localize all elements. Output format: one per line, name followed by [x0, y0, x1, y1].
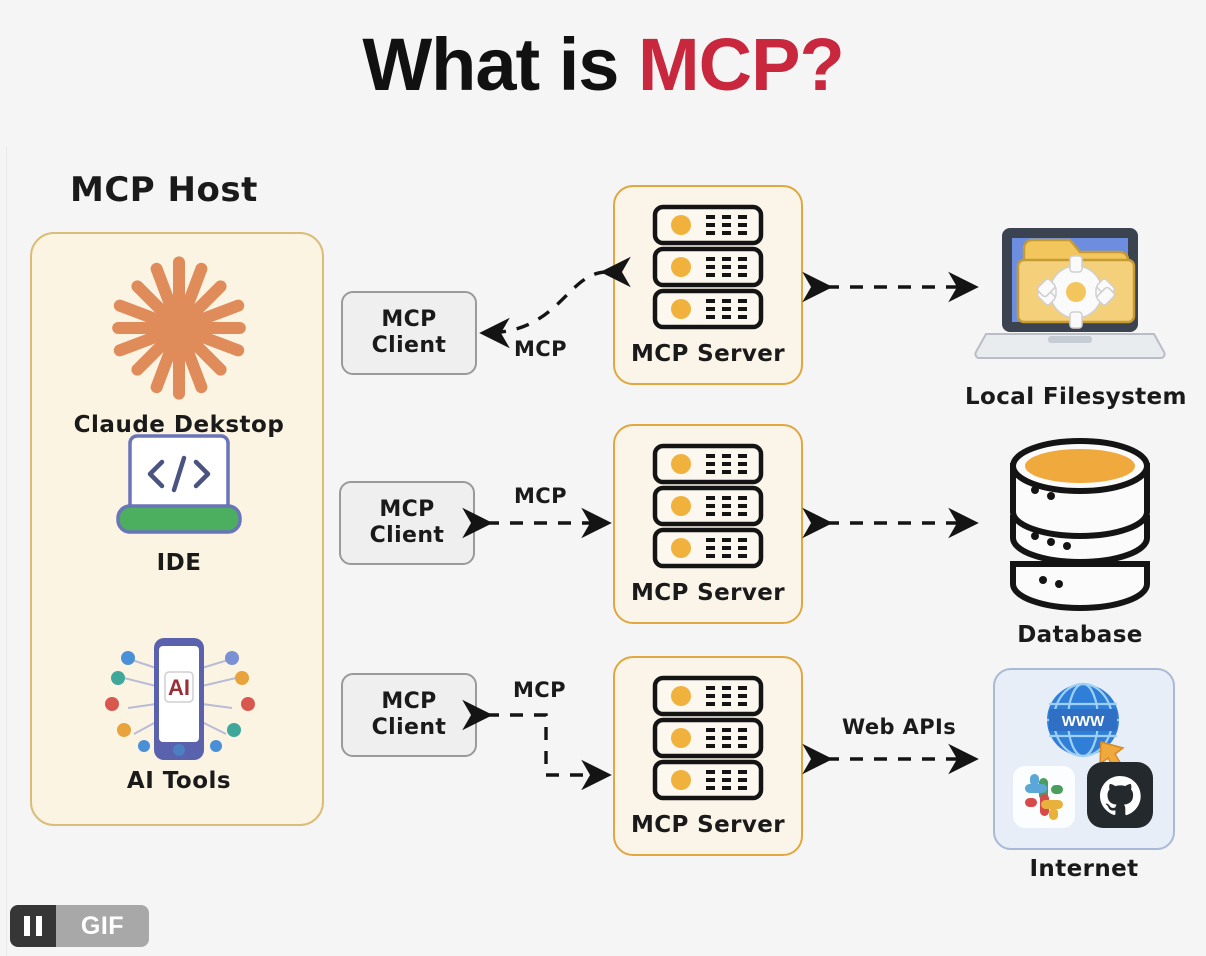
gif-format-label: GIF [56, 905, 149, 947]
mcp-server-label-3: MCP Server [631, 812, 785, 838]
diagram-canvas: What is MCP? MCP Host [0, 0, 1206, 956]
pause-bar-right [36, 916, 42, 936]
mcp-server-card-1[interactable]: MCP Server [613, 185, 803, 385]
page-title: What is MCP? [0, 22, 1206, 107]
resource-local-filesystem[interactable]: Local Filesystem [965, 222, 1175, 410]
resource-label-internet: Internet [980, 856, 1188, 882]
resource-label-local-filesystem: Local Filesystem [965, 384, 1175, 410]
claude-burst-icon [32, 248, 326, 408]
mcp-client-2-line1: MCP [379, 497, 434, 523]
host-item-label-ai-tools: AI Tools [32, 768, 326, 794]
gif-player-badge: GIF [10, 905, 149, 947]
svg-text:WWW: WWW [1062, 713, 1105, 730]
resource-database[interactable]: Database [980, 432, 1180, 648]
host-item-ide[interactable]: IDE [32, 430, 326, 576]
svg-text:AI: AI [168, 675, 190, 700]
mcp-server-card-3[interactable]: MCP Server [613, 656, 803, 856]
database-cylinder-icon [980, 432, 1180, 616]
left-edge-divider [6, 146, 7, 956]
mcp-host-title: MCP Host [70, 170, 258, 210]
mcp-client-box-3[interactable]: MCP Client [341, 673, 477, 757]
mcp-client-3-line1: MCP [381, 689, 436, 715]
page-title-accent: MCP? [638, 23, 844, 106]
connector-label-mcp-3: MCP [513, 678, 566, 702]
server-rack-icon [649, 674, 767, 806]
connector-label-mcp-1: MCP [514, 337, 567, 361]
mcp-server-label-2: MCP Server [631, 580, 785, 606]
code-laptop-icon [32, 430, 326, 546]
mcp-client-box-1[interactable]: MCP Client [341, 291, 477, 375]
resource-internet[interactable]: WWW [980, 668, 1188, 882]
server-rack-icon [649, 442, 767, 574]
page-title-prefix: What is [362, 23, 638, 106]
mcp-client-1-line2: Client [372, 333, 447, 359]
mcp-server-label-1: MCP Server [631, 341, 785, 367]
host-item-label-ide: IDE [32, 550, 326, 576]
internet-panel-icon: WWW [993, 668, 1175, 850]
ai-phone-network-icon: AI [32, 634, 326, 764]
mcp-client-2-line2: Client [370, 523, 445, 549]
mcp-host-panel: Claude Dekstop IDE [30, 232, 324, 826]
mcp-client-box-2[interactable]: MCP Client [339, 481, 475, 565]
mcp-client-3-line2: Client [372, 715, 447, 741]
pause-bar-left [24, 916, 30, 936]
server-rack-icon [649, 203, 767, 335]
connector-label-mcp-2: MCP [514, 484, 567, 508]
mcp-client-1-line1: MCP [381, 307, 436, 333]
host-item-claude-desktop[interactable]: Claude Dekstop [32, 248, 326, 438]
host-item-ai-tools[interactable]: AI AI Tools [32, 634, 326, 794]
laptop-folder-gear-icon [965, 222, 1175, 378]
connector-label-web-apis: Web APIs [842, 715, 956, 739]
pause-button[interactable] [10, 905, 56, 947]
resource-label-database: Database [980, 622, 1180, 648]
mcp-server-card-2[interactable]: MCP Server [613, 424, 803, 624]
